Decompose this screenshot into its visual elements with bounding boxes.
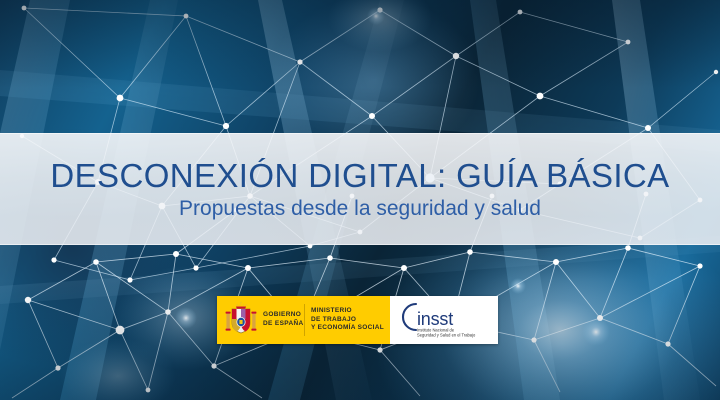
insst-logo-icon: insst Instituto Nacional de Seguridad y … xyxy=(399,300,487,340)
logo-divider xyxy=(304,304,305,336)
page-subtitle: Propuestas desde la seguridad y salud xyxy=(179,197,541,220)
title-banner: DESCONEXIÓN DIGITAL: GUÍA BÁSICA Propues… xyxy=(0,133,720,245)
ministerio-line-3: Y ECONOMÍA SOCIAL xyxy=(311,324,384,333)
banner-text-group: DESCONEXIÓN DIGITAL: GUÍA BÁSICA Propues… xyxy=(0,133,720,245)
gobierno-de-espana-logo: GOBIERNO DE ESPAÑA MINISTERIO DE TRABAJO… xyxy=(217,296,390,344)
spanish-coat-of-arms-icon xyxy=(224,301,258,339)
ministerio-line-1: MINISTERIO xyxy=(311,307,384,316)
logo-strip: GOBIERNO DE ESPAÑA MINISTERIO DE TRABAJO… xyxy=(217,296,498,344)
svg-text:Seguridad y Salud en el Trabaj: Seguridad y Salud en el Trabajo xyxy=(417,332,476,337)
insst-logo: insst Instituto Nacional de Seguridad y … xyxy=(390,296,498,344)
gobierno-label: GOBIERNO DE ESPAÑA xyxy=(263,311,304,328)
gobierno-line-1: GOBIERNO xyxy=(263,311,304,320)
page-title: DESCONEXIÓN DIGITAL: GUÍA BÁSICA xyxy=(50,158,669,196)
ministerio-line-2: DE TRABAJO xyxy=(311,316,384,325)
ministerio-label: MINISTERIO DE TRABAJO Y ECONOMÍA SOCIAL xyxy=(311,307,384,333)
svg-text:insst: insst xyxy=(417,309,453,329)
poster-cover: DESCONEXIÓN DIGITAL: GUÍA BÁSICA Propues… xyxy=(0,0,720,400)
gobierno-line-2: DE ESPAÑA xyxy=(263,320,304,329)
